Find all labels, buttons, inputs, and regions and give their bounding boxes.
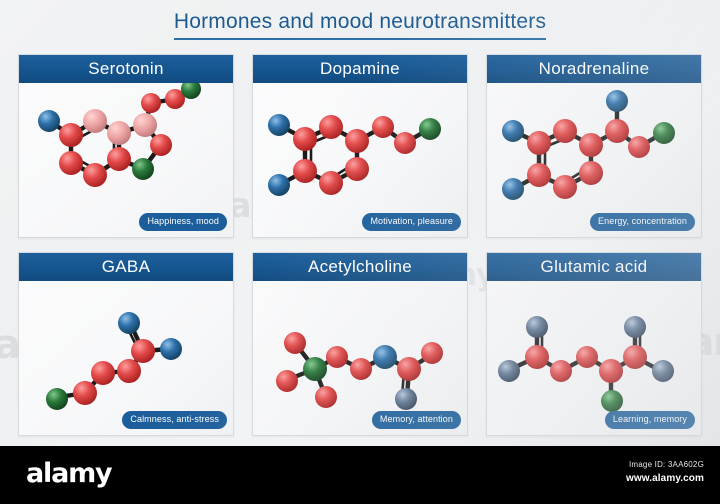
panel-acetylcholine[interactable]: Acetylcholine xyxy=(252,252,468,436)
molecule-gaba: Calmness, anti-stress xyxy=(19,281,233,435)
panel-dopamine[interactable]: Dopamine xyxy=(252,54,468,238)
stock-photo-image: alamy alamy alamy alamy alamy alamy alam… xyxy=(0,0,720,446)
panel-title-glutamic-acid: Glutamic acid xyxy=(487,253,701,281)
panel-title-gaba: GABA xyxy=(19,253,233,281)
tagline-noradrenaline: Energy, concentration xyxy=(590,213,695,231)
tagline-serotonin: Happiness, mood xyxy=(139,213,227,231)
alamy-logo: alamy xyxy=(26,460,111,487)
panel-noradrenaline[interactable]: Noradrenaline xyxy=(486,54,702,238)
molecule-noradrenaline: Energy, concentration xyxy=(487,83,701,237)
page-title-text: Hormones and mood neurotransmitters xyxy=(174,10,546,40)
image-id-text: Image ID: 3AA602G xyxy=(626,460,704,469)
alamy-url[interactable]: www.alamy.com xyxy=(626,473,704,484)
panel-serotonin[interactable]: Serotonin xyxy=(18,54,234,238)
tagline-acetylcholine: Memory, attention xyxy=(372,411,461,429)
panel-gaba[interactable]: GABA xyxy=(18,252,234,436)
neurotransmitter-grid: Serotonin xyxy=(18,54,702,436)
tagline-dopamine: Motivation, pleasure xyxy=(362,213,461,231)
panel-title-noradrenaline: Noradrenaline xyxy=(487,55,701,83)
panel-title-acetylcholine: Acetylcholine xyxy=(253,253,467,281)
page-title: Hormones and mood neurotransmitters xyxy=(0,10,720,40)
alamy-footer-bar: alamy Image ID: 3AA602G www.alamy.com xyxy=(0,446,720,504)
molecule-serotonin: Happiness, mood xyxy=(19,83,233,237)
footer-meta: Image ID: 3AA602G www.alamy.com xyxy=(626,460,704,484)
tagline-gaba: Calmness, anti-stress xyxy=(122,411,227,429)
panel-glutamic-acid[interactable]: Glutamic acid xyxy=(486,252,702,436)
molecule-dopamine: Motivation, pleasure xyxy=(253,83,467,237)
panel-title-dopamine: Dopamine xyxy=(253,55,467,83)
molecule-glutamic-acid: Learning, memory xyxy=(487,281,701,435)
tagline-glutamic-acid: Learning, memory xyxy=(605,411,695,429)
panel-title-serotonin: Serotonin xyxy=(19,55,233,83)
molecule-acetylcholine: Memory, attention xyxy=(253,281,467,435)
